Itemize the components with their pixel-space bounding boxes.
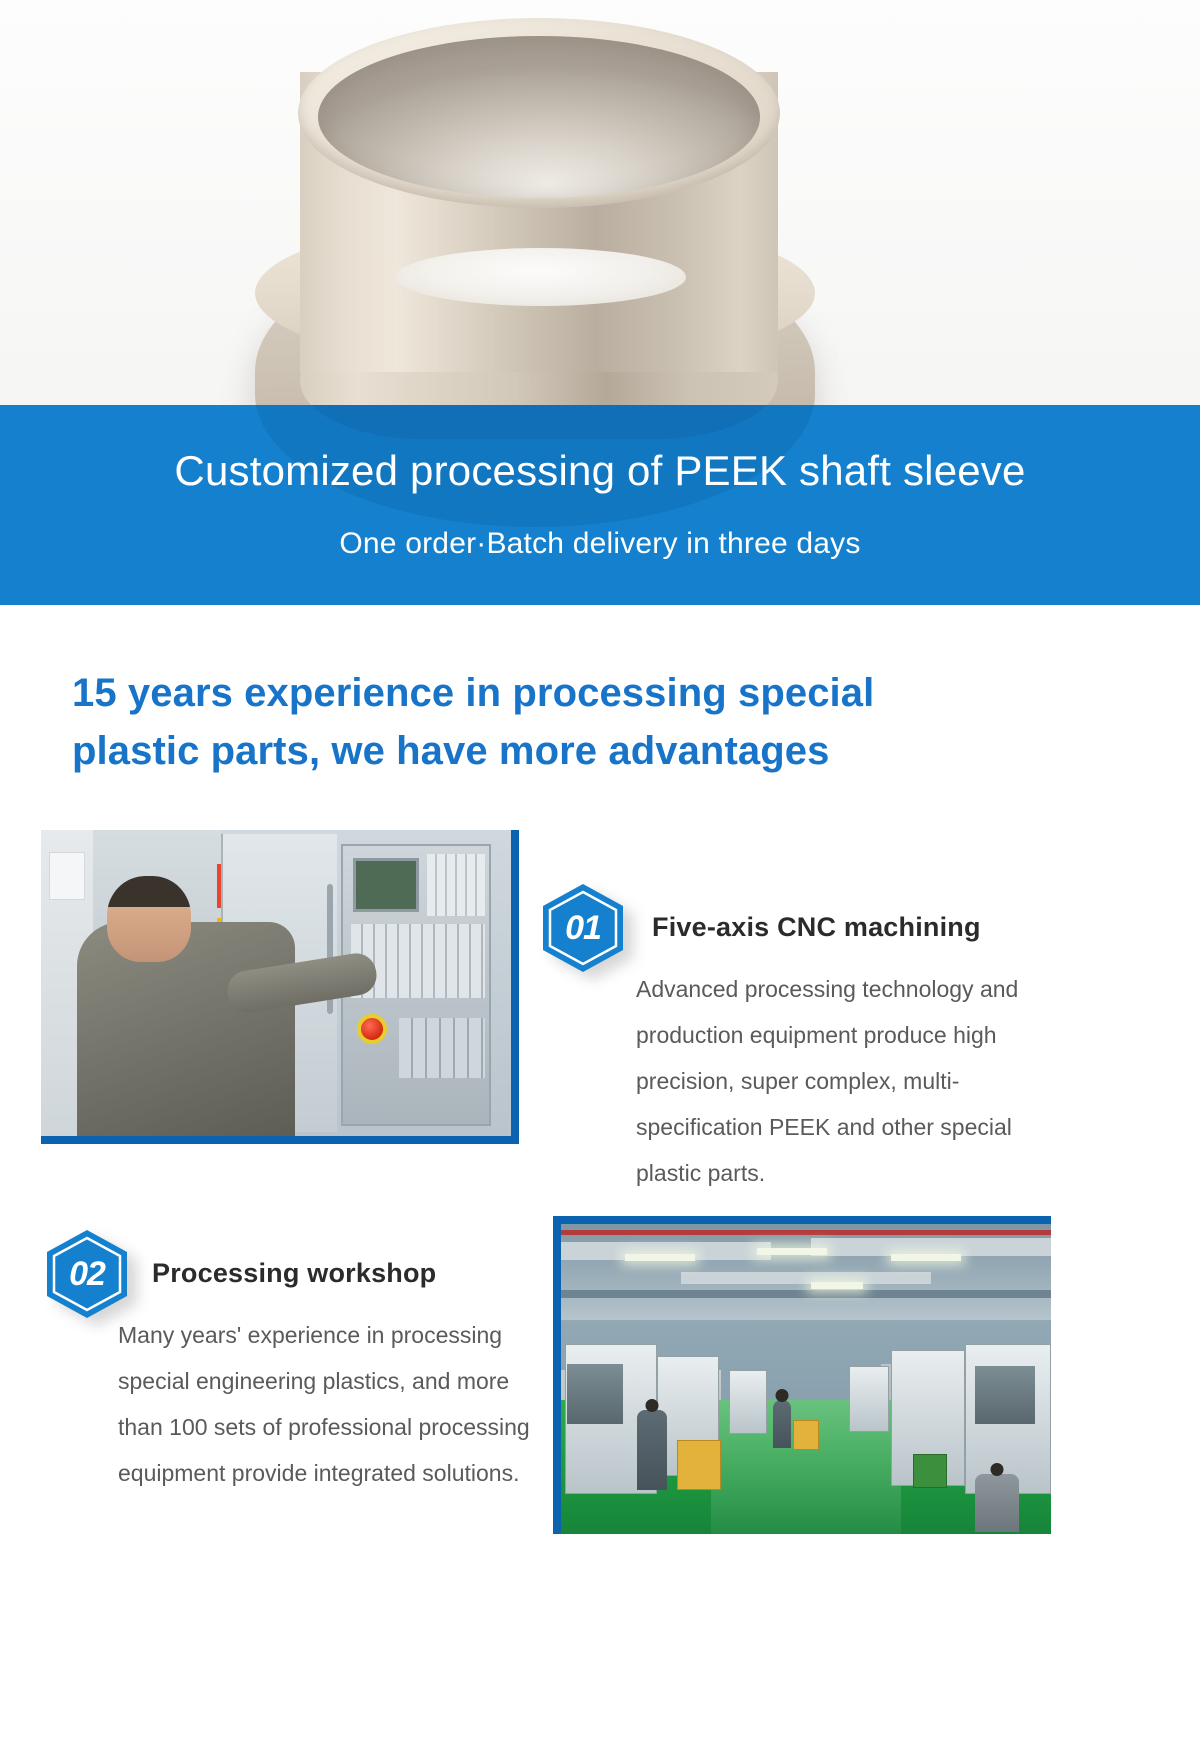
cnc-emergency-stop-button <box>357 1014 387 1044</box>
workshop-worker <box>773 1400 791 1448</box>
cnc-operator-head <box>107 876 191 962</box>
section-heading-line-2: plastic parts, we have more advantages <box>72 722 1072 780</box>
product-rim-inner <box>318 36 760 198</box>
cnc-button-row <box>399 1018 485 1078</box>
section-heading: 15 years experience in processing specia… <box>72 664 1072 780</box>
feature-01-badge: 01 <box>540 882 626 979</box>
cnc-photo <box>41 830 511 1136</box>
cnc-keypad-upper <box>427 854 485 916</box>
feature-02-badge: 02 <box>44 1228 130 1325</box>
hero-banner: Customized processing of PEEK shaft slee… <box>0 405 1200 605</box>
workshop-ceiling-light <box>757 1248 827 1255</box>
workshop-beam <box>561 1290 1051 1298</box>
cnc-display-screen <box>353 858 419 912</box>
workshop-machine-window <box>975 1366 1035 1424</box>
feature-02-image <box>553 1216 1051 1534</box>
feature-02-number: 02 <box>44 1228 130 1320</box>
feature-02-body: Many years' experience in processing spe… <box>118 1312 530 1496</box>
feature-01-body: Advanced processing technology and produ… <box>636 966 1066 1196</box>
workshop-worker <box>637 1410 667 1490</box>
feature-01-number: 01 <box>540 882 626 974</box>
feature-02-title: Processing workshop <box>152 1258 436 1289</box>
workshop-machine <box>849 1366 889 1432</box>
product-bore-floor <box>396 248 686 306</box>
banner-subtitle: One order·Batch delivery in three days <box>0 527 1200 561</box>
workshop-photo <box>561 1224 1051 1534</box>
workshop-worker <box>975 1474 1019 1532</box>
cnc-operator-body <box>77 922 295 1136</box>
banner-overlay-shape-b <box>300 405 778 439</box>
feature-01-title: Five-axis CNC machining <box>652 912 981 943</box>
hexagon-badge-icon: 02 <box>44 1228 130 1320</box>
workshop-machine-window <box>567 1364 623 1424</box>
section-heading-line-1: 15 years experience in processing specia… <box>72 664 1072 722</box>
workshop-ceiling-light <box>811 1282 863 1289</box>
workshop-ceiling-light <box>625 1254 695 1261</box>
hexagon-badge-icon: 01 <box>540 882 626 974</box>
workshop-ceiling-light <box>891 1254 961 1261</box>
workshop-cart <box>677 1440 721 1490</box>
workshop-machine <box>729 1370 767 1434</box>
workshop-duct <box>681 1272 931 1284</box>
banner-title: Customized processing of PEEK shaft slee… <box>0 447 1200 495</box>
cnc-wall-paper <box>49 852 85 900</box>
product-landing-page: Customized processing of PEEK shaft slee… <box>0 0 1200 1760</box>
workshop-cart <box>913 1454 947 1488</box>
workshop-cart <box>793 1420 819 1450</box>
feature-01-image <box>41 830 519 1144</box>
workshop-pipe-red <box>561 1230 1051 1235</box>
